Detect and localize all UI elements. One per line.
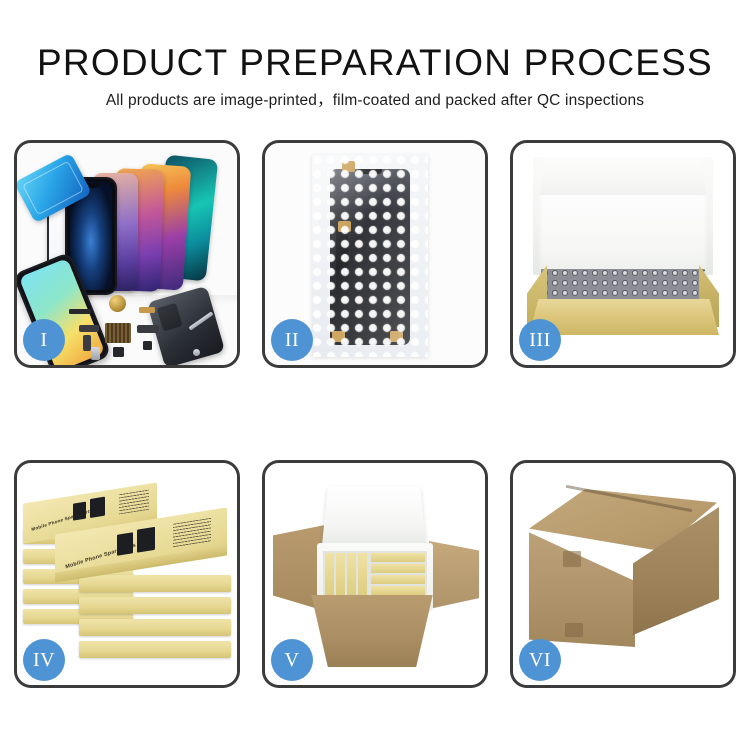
bubble-texture (312, 155, 428, 357)
carton-tape-lower-icon (565, 623, 583, 637)
step-badge-6: VI (519, 639, 561, 681)
chip-part-icon (105, 323, 131, 343)
foam-lid-icon (322, 486, 426, 547)
flex-cable-2-icon (83, 335, 91, 351)
inner-kraft-box-3 (347, 553, 356, 597)
bubble-bag-icon (312, 155, 428, 357)
inner-kraft-box-7 (371, 575, 425, 584)
step-badge-2: II (271, 319, 313, 361)
tweezers-icon (188, 311, 213, 330)
stacked-box-r4 (79, 641, 231, 658)
button-part-icon (143, 341, 152, 350)
carton-tape-upper-icon (563, 551, 581, 567)
step-panel-2[interactable]: II (262, 140, 488, 368)
inner-kraft-box-5 (371, 553, 425, 562)
box-thumb-back-2 (90, 497, 105, 518)
box-spec-lines-front (173, 518, 211, 548)
sim-tray-icon (91, 347, 100, 360)
screw-icon (193, 349, 200, 356)
speaker-part-icon (109, 295, 126, 312)
connector-part-icon (139, 307, 155, 313)
stacked-box-r3 (79, 619, 231, 636)
foam-sheet-icon (539, 195, 707, 275)
step-badge-4: IV (23, 639, 65, 681)
stacked-box-r2 (79, 597, 231, 614)
step-badge-3: III (519, 319, 561, 361)
inner-kraft-box-1 (325, 553, 334, 597)
page-title: PRODUCT PREPARATION PROCESS (0, 42, 750, 84)
inner-kraft-box-4 (358, 553, 367, 597)
box-thumb-front-2 (137, 527, 155, 553)
box-thumb-back-1 (73, 502, 86, 521)
step-panel-3[interactable]: III (510, 140, 736, 368)
carton-flap-right-icon (429, 541, 479, 609)
header: PRODUCT PREPARATION PROCESS All products… (0, 0, 750, 130)
box-thumb-front-1 (117, 532, 133, 556)
foam-cavity (323, 551, 427, 599)
stacked-box-r1 (79, 575, 231, 592)
step-panel-5[interactable]: V (262, 460, 488, 688)
step-panel-4[interactable]: Mobile Phone Spare Parts Mobile Phone Sp… (14, 460, 240, 688)
inner-kraft-box-2 (336, 553, 345, 597)
page-subtitle: All products are image-printed，film-coat… (0, 88, 750, 110)
process-step-grid: I II III (14, 140, 736, 700)
inner-kraft-box-8 (371, 586, 425, 595)
flex-cable-3-icon (137, 325, 159, 333)
step-panel-6[interactable]: VI (510, 460, 736, 688)
flex-cable-1-icon (79, 325, 99, 332)
step-badge-5: V (271, 639, 313, 681)
earpiece-part-icon (69, 309, 91, 314)
step-badge-1: I (23, 319, 65, 361)
box-spec-lines-back (119, 490, 149, 515)
step-panel-1[interactable]: I (14, 140, 240, 368)
camera-module-icon (113, 347, 124, 357)
inner-kraft-box-6 (371, 564, 425, 573)
